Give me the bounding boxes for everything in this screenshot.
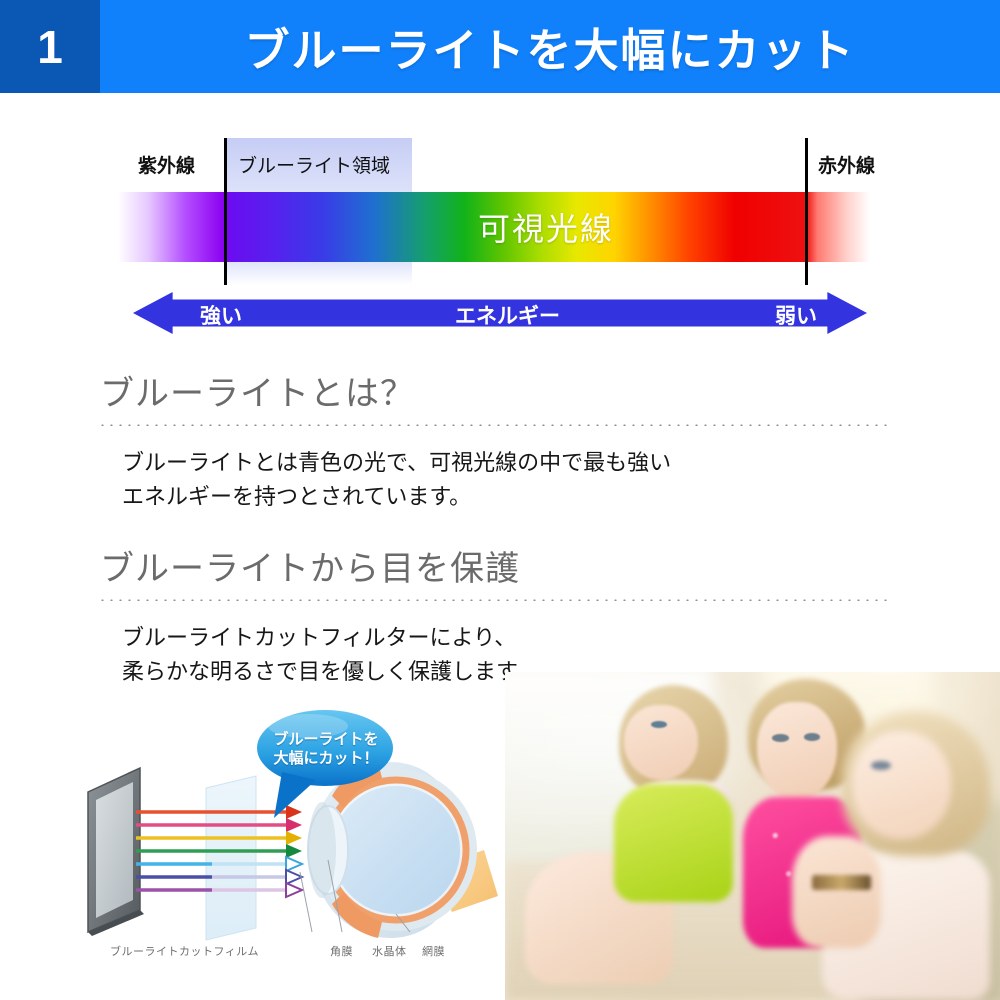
photo-child-a-green-top [614,784,733,902]
label-energy-strong: 強い [200,300,242,330]
photo-child-a-face [624,705,698,780]
label-visible-light: 可視光線 [478,204,614,250]
photo-child-c-arm [792,836,881,948]
eye-diagram [300,762,498,938]
label-ultraviolet: 紫外線 [138,151,195,178]
label-blue-light-region: ブルーライト領域 [238,151,390,178]
section-body-what-is-blue-light: ブルーライトとは青色の光で、可視光線の中で最も強い エネルギーを持つとされていま… [122,446,671,514]
section-divider-2 [98,599,888,601]
infographic-page: 1 ブルーライトを大幅にカット 紫外線 ブルーライト領域 赤外線 可視光線 強い… [0,0,1000,1000]
header-banner: 1 ブルーライトを大幅にカット [0,0,1000,93]
ir-boundary-line [805,138,808,285]
label-blue-light-cut-film: ブルーライトカットフィルム [110,943,259,959]
label-energy: エネルギー [455,300,560,330]
speech-bubble-text: ブルーライトを 大幅にカット！ [262,730,390,768]
photo-child-c-wristwatch [812,875,871,890]
label-crystalline-lens: 水晶体 [372,943,407,959]
page-title: ブルーライトを大幅にカット [244,14,855,79]
section-heading-protect-eyes: ブルーライトから目を保護 [100,541,520,590]
section-divider-1 [98,424,888,426]
header-title-area: ブルーライトを大幅にカット [100,0,1000,93]
filter-film-sheet [206,776,256,940]
step-number: 1 [37,24,63,70]
photo-child-b-eye-right [804,733,820,741]
uv-boundary-line [224,138,227,285]
photo-child-c-face [852,731,951,839]
children-watching-photo [505,672,1000,1000]
step-number-block: 1 [0,0,100,93]
section-heading-what-is-blue-light: ブルーライトとは？ [100,366,415,415]
label-energy-weak: 弱い [775,300,817,330]
photo-child-b-face [757,702,836,800]
blue-light-region-highlight-lower [226,262,412,285]
label-cornea: 角膜 [330,943,353,959]
section-body-protect-eyes: ブルーライトカットフィルターにより、 柔らかな明るさで目を優しく保護します。 [122,621,538,689]
label-retina: 網膜 [422,943,445,959]
label-infrared: 赤外線 [818,151,875,178]
screen-illustration [88,768,144,936]
